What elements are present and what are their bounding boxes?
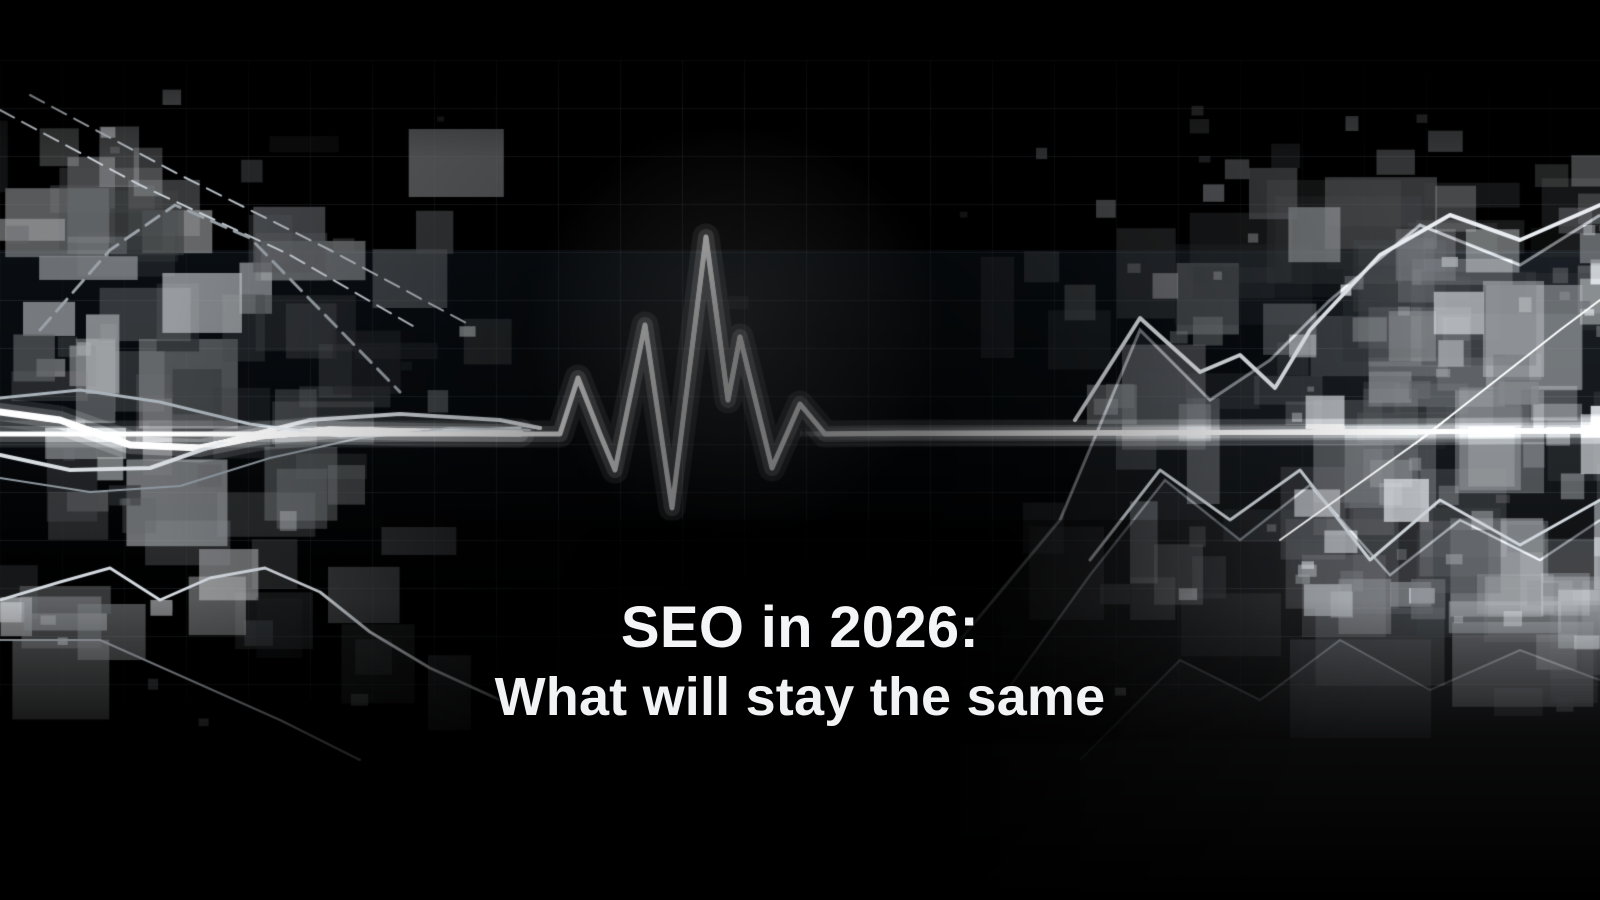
hero-banner: SEO in 2026: What will stay the same [0,0,1600,900]
hero-artwork-canvas [0,0,1600,900]
